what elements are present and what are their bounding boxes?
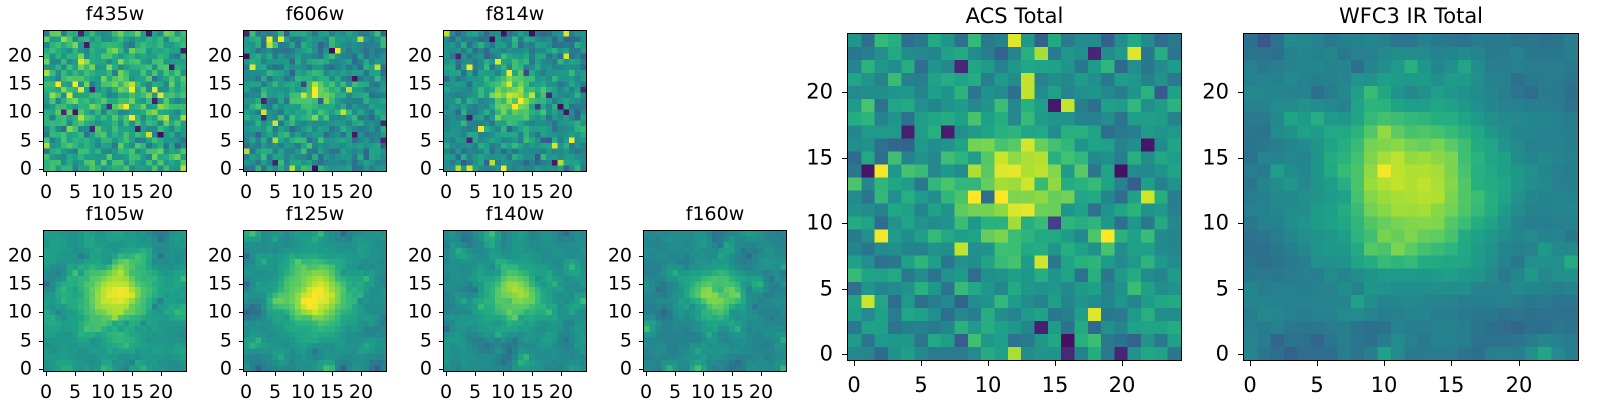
x-tick <box>761 372 762 376</box>
panel-title: f105w <box>43 205 187 224</box>
x-tick <box>103 172 104 176</box>
x-tick-label: 10 <box>491 183 515 202</box>
x-tick-label: 15 <box>1042 375 1069 396</box>
x-tick <box>1122 361 1123 366</box>
plot-area[interactable] <box>1243 33 1579 361</box>
y-tick-label: 10 <box>0 303 32 322</box>
heatmap-image <box>244 31 386 171</box>
x-tick-label: 0 <box>40 383 52 402</box>
x-tick <box>303 372 304 376</box>
heatmap-image <box>444 31 586 171</box>
x-tick <box>161 172 162 176</box>
panel-wfc3-ir-total: WFC3 IR Total0510152005101520 <box>0 0 1600 400</box>
x-tick-label: 10 <box>91 183 115 202</box>
x-tick <box>675 372 676 376</box>
heatmap-image <box>1244 34 1578 360</box>
panel-title: WFC3 IR Total <box>1243 6 1579 27</box>
x-tick-label: 5 <box>914 375 927 396</box>
x-tick-label: 15 <box>520 183 544 202</box>
x-tick <box>46 172 47 176</box>
x-tick <box>561 372 562 376</box>
x-tick <box>75 172 76 176</box>
x-tick-label: 0 <box>240 183 252 202</box>
x-tick-label: 10 <box>291 383 315 402</box>
y-tick-label: 15 <box>773 148 833 169</box>
x-tick <box>361 372 362 376</box>
x-tick <box>161 372 162 376</box>
x-tick <box>1384 361 1385 366</box>
x-tick-label: 20 <box>1109 375 1136 396</box>
x-tick-label: 5 <box>469 183 481 202</box>
x-tick <box>854 361 855 366</box>
x-tick-label: 20 <box>749 383 773 402</box>
heatmap-image <box>444 231 586 371</box>
x-tick <box>503 172 504 176</box>
y-tick-label: 15 <box>0 275 32 294</box>
y-tick-label: 0 <box>0 360 32 379</box>
y-tick-label: 5 <box>0 132 32 151</box>
x-tick <box>646 372 647 376</box>
plot-area[interactable] <box>243 30 387 172</box>
x-tick-label: 10 <box>1371 375 1398 396</box>
x-tick <box>446 372 447 376</box>
x-tick-label: 0 <box>40 183 52 202</box>
y-tick-label: 20 <box>0 47 32 66</box>
plot-area[interactable] <box>43 30 187 172</box>
x-tick <box>446 172 447 176</box>
x-tick-label: 10 <box>975 375 1002 396</box>
x-tick-label: 0 <box>1243 375 1256 396</box>
x-tick-label: 10 <box>291 183 315 202</box>
x-tick-label: 10 <box>691 383 715 402</box>
x-tick-label: 20 <box>549 383 573 402</box>
x-tick-label: 0 <box>640 383 652 402</box>
x-tick <box>988 361 989 366</box>
x-tick <box>332 172 333 176</box>
x-tick <box>103 372 104 376</box>
x-tick-label: 5 <box>269 183 281 202</box>
x-tick <box>532 172 533 176</box>
x-tick <box>303 172 304 176</box>
plot-area[interactable] <box>847 33 1182 361</box>
x-tick <box>1055 361 1056 366</box>
panel-title: ACS Total <box>847 6 1182 27</box>
x-tick-label: 0 <box>440 383 452 402</box>
x-tick <box>1451 361 1452 366</box>
panel-title: f125w <box>243 205 387 224</box>
x-tick-label: 15 <box>320 383 344 402</box>
plot-area[interactable] <box>443 30 587 172</box>
panel-title: f160w <box>643 205 787 224</box>
x-tick-label: 10 <box>491 383 515 402</box>
plot-area[interactable] <box>643 230 787 372</box>
x-tick <box>332 372 333 376</box>
x-tick-label: 5 <box>469 383 481 402</box>
heatmap-image <box>44 31 186 171</box>
y-tick-label: 0 <box>0 160 32 179</box>
x-tick-label: 15 <box>320 183 344 202</box>
x-tick <box>561 172 562 176</box>
x-tick-label: 5 <box>69 383 81 402</box>
plot-area[interactable] <box>243 230 387 372</box>
heatmap-image <box>848 34 1181 360</box>
x-tick-label: 10 <box>91 383 115 402</box>
x-tick <box>275 372 276 376</box>
x-tick-label: 0 <box>847 375 860 396</box>
x-tick-label: 5 <box>669 383 681 402</box>
x-tick <box>1519 361 1520 366</box>
figure-canvas: f435w0510152005101520f606w05101520051015… <box>0 0 1600 400</box>
x-tick-label: 15 <box>720 383 744 402</box>
heatmap-image <box>644 231 786 371</box>
heatmap-image <box>244 231 386 371</box>
y-tick-label: 15 <box>0 75 32 94</box>
x-tick-label: 20 <box>349 183 373 202</box>
x-tick <box>732 372 733 376</box>
x-tick-label: 5 <box>69 183 81 202</box>
x-tick-label: 5 <box>1310 375 1323 396</box>
y-tick-label: 20 <box>773 82 833 103</box>
panel-title: f140w <box>443 205 587 224</box>
y-tick-label: 10 <box>0 103 32 122</box>
x-tick <box>921 361 922 366</box>
x-tick <box>75 372 76 376</box>
y-tick-label: 20 <box>0 247 32 266</box>
x-tick <box>46 372 47 376</box>
panel-title: f606w <box>243 5 387 24</box>
x-tick-label: 20 <box>149 183 173 202</box>
x-tick <box>532 372 533 376</box>
x-tick <box>1250 361 1251 366</box>
y-tick-label: 5 <box>0 332 32 351</box>
x-tick <box>246 372 247 376</box>
x-tick-label: 20 <box>149 383 173 402</box>
panel-title: f814w <box>443 5 587 24</box>
x-tick-label: 20 <box>1506 375 1533 396</box>
panel-title: f435w <box>43 5 187 24</box>
x-tick <box>475 372 476 376</box>
x-tick-label: 0 <box>440 183 452 202</box>
x-tick <box>275 172 276 176</box>
x-tick <box>361 172 362 176</box>
plot-area[interactable] <box>443 230 587 372</box>
x-tick-label: 20 <box>549 183 573 202</box>
x-tick <box>503 372 504 376</box>
x-tick <box>1317 361 1318 366</box>
plot-area[interactable] <box>43 230 187 372</box>
x-tick-label: 15 <box>120 383 144 402</box>
x-tick-label: 20 <box>349 383 373 402</box>
x-tick-label: 0 <box>240 383 252 402</box>
x-tick <box>246 172 247 176</box>
heatmap-image <box>44 231 186 371</box>
x-tick <box>132 172 133 176</box>
x-tick-label: 5 <box>269 383 281 402</box>
x-tick-label: 15 <box>120 183 144 202</box>
x-tick-label: 15 <box>1438 375 1465 396</box>
x-tick <box>475 172 476 176</box>
x-tick <box>703 372 704 376</box>
x-tick-label: 15 <box>520 383 544 402</box>
x-tick <box>132 372 133 376</box>
